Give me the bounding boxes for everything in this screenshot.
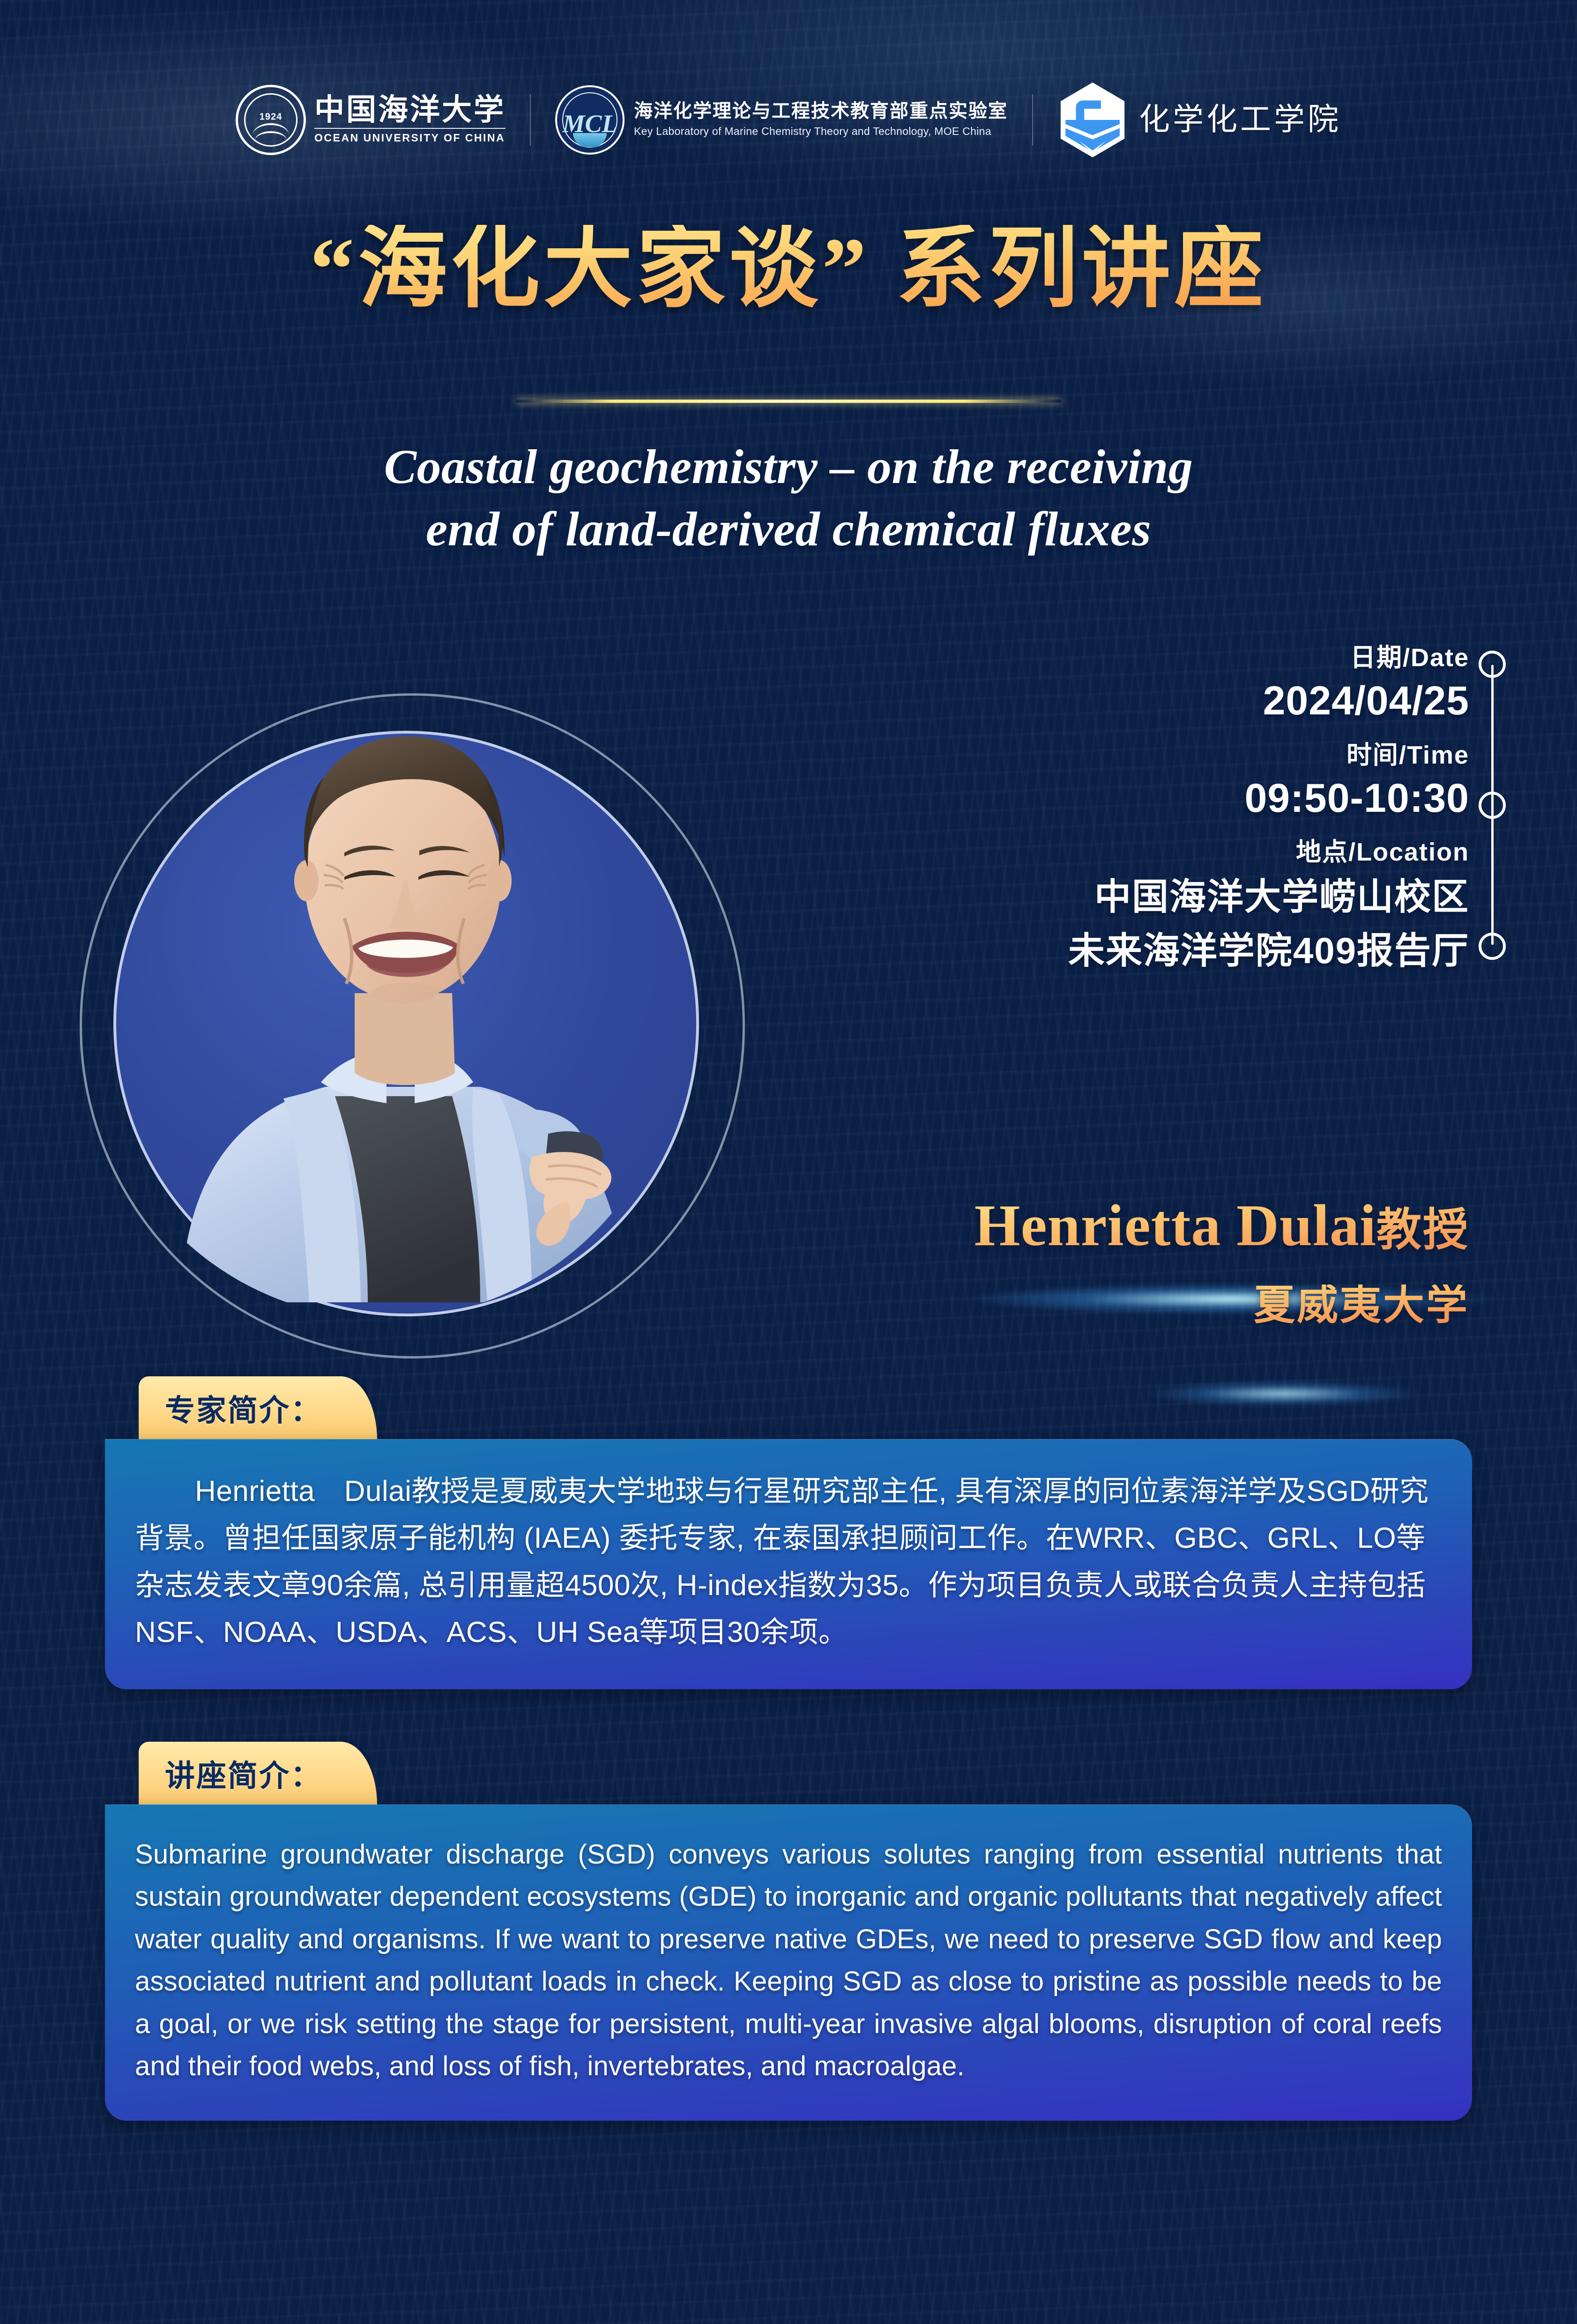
expert-bio-panel: Henrietta Dulai教授是夏威夷大学地球与行星研究部主任, 具有深厚的… [105, 1439, 1472, 1689]
timeline-dot-date [1479, 651, 1506, 678]
hexagon-c-icon [1057, 81, 1128, 159]
marine-chemistry-lab-logo: MCL 海洋化学理论与工程技术教育部重点实验室 Key Laboratory o… [555, 85, 1008, 155]
speaker-name: Henrietta Dulai [974, 1193, 1376, 1258]
ouc-seal-year: 1924 [260, 111, 283, 122]
lecture-abstract-tab: 讲座简介： [139, 1742, 377, 1805]
chemistry-college-logo: 化学化工学院 [1057, 81, 1341, 159]
info-block-time: 时间/Time 09:50-10:30 [884, 742, 1469, 821]
ouc-name-en: OCEAN UNIVERSITY OF CHINA [314, 128, 506, 144]
poster-canvas: 1924 中国海洋大学 OCEAN UNIVERSITY OF CHINA MC… [0, 0, 1577, 2324]
timeline-dot-location [1479, 933, 1506, 960]
expert-bio-tab-label: 专家简介： [165, 1394, 322, 1427]
speaker-block: Henrietta Dulai教授 夏威夷大学 [974, 1195, 1469, 1326]
info-block-location: 地点/Location 中国海洋大学崂山校区 未来海洋学院409报告厅 [884, 839, 1469, 974]
date-value: 2024/04/25 [884, 678, 1469, 723]
title-divider [516, 400, 1062, 403]
expert-bio-section: 专家简介： Henrietta Dulai教授是夏威夷大学地球与行星研究部主任,… [105, 1376, 1472, 1689]
location-value-line-2: 未来海洋学院409报告厅 [884, 927, 1469, 974]
time-label: 时间/Time [884, 742, 1469, 769]
speaker-name-row: Henrietta Dulai教授 [974, 1195, 1469, 1257]
lecture-abstract-text: Submarine groundwater discharge (SGD) co… [135, 1834, 1442, 2088]
info-block-date: 日期/Date 2024/04/25 [884, 644, 1469, 724]
ouc-seal-icon: 1924 [236, 85, 306, 155]
header-logo-bar: 1924 中国海洋大学 OCEAN UNIVERSITY OF CHINA MC… [0, 69, 1577, 170]
chemistry-college-name-cn: 化学化工学院 [1139, 104, 1341, 135]
speaker-portrait [80, 637, 829, 1302]
mcl-name-en: Key Laboratory of Marine Chemistry Theor… [634, 125, 1008, 138]
date-label: 日期/Date [884, 644, 1469, 672]
info-timeline [1479, 649, 1507, 960]
speaker-photo [124, 637, 686, 1302]
time-value: 09:50-10:30 [884, 776, 1469, 821]
location-label: 地点/Location [884, 839, 1469, 866]
lecture-abstract-panel: Submarine groundwater discharge (SGD) co… [105, 1804, 1472, 2121]
mcl-seal-icon: MCL [555, 85, 625, 155]
logo-divider [530, 94, 531, 146]
ouc-logo: 1924 中国海洋大学 OCEAN UNIVERSITY OF CHINA [236, 85, 506, 155]
lecture-abstract-tab-label: 讲座简介： [165, 1760, 322, 1793]
speaker-title-suffix: 教授 [1376, 1205, 1469, 1255]
lecture-subtitle: Coastal geochemistry – on the receiving … [0, 436, 1577, 560]
location-value-line-1: 中国海洋大学崂山校区 [884, 873, 1469, 921]
expert-bio-body: Henrietta Dulai教授是夏威夷大学地球与行星研究部主任, 具有深厚的… [135, 1475, 1429, 1648]
mcl-name-cn: 海洋化学理论与工程技术教育部重点实验室 [634, 102, 1008, 120]
event-info: 日期/Date 2024/04/25 时间/Time 09:50-10:30 地… [884, 644, 1469, 975]
expert-bio-tab: 专家简介： [139, 1376, 377, 1440]
expert-bio-text: Henrietta Dulai教授是夏威夷大学地球与行星研究部主任, 具有深厚的… [135, 1468, 1442, 1656]
timeline-dot-time [1479, 792, 1506, 819]
subtitle-line-2: end of land-derived chemical fluxes [0, 498, 1577, 560]
lecture-abstract-section: 讲座简介： Submarine groundwater discharge (S… [105, 1742, 1472, 2121]
logo-divider [1032, 94, 1033, 146]
subtitle-line-1: Coastal geochemistry – on the receiving [0, 436, 1577, 498]
ouc-name-cn: 中国海洋大学 [314, 95, 506, 125]
mcl-seal-glyph: MCL [562, 111, 617, 136]
speaker-affiliation: 夏威夷大学 [974, 1285, 1469, 1326]
page-title: “海化大家谈” 系列讲座 [0, 225, 1577, 314]
